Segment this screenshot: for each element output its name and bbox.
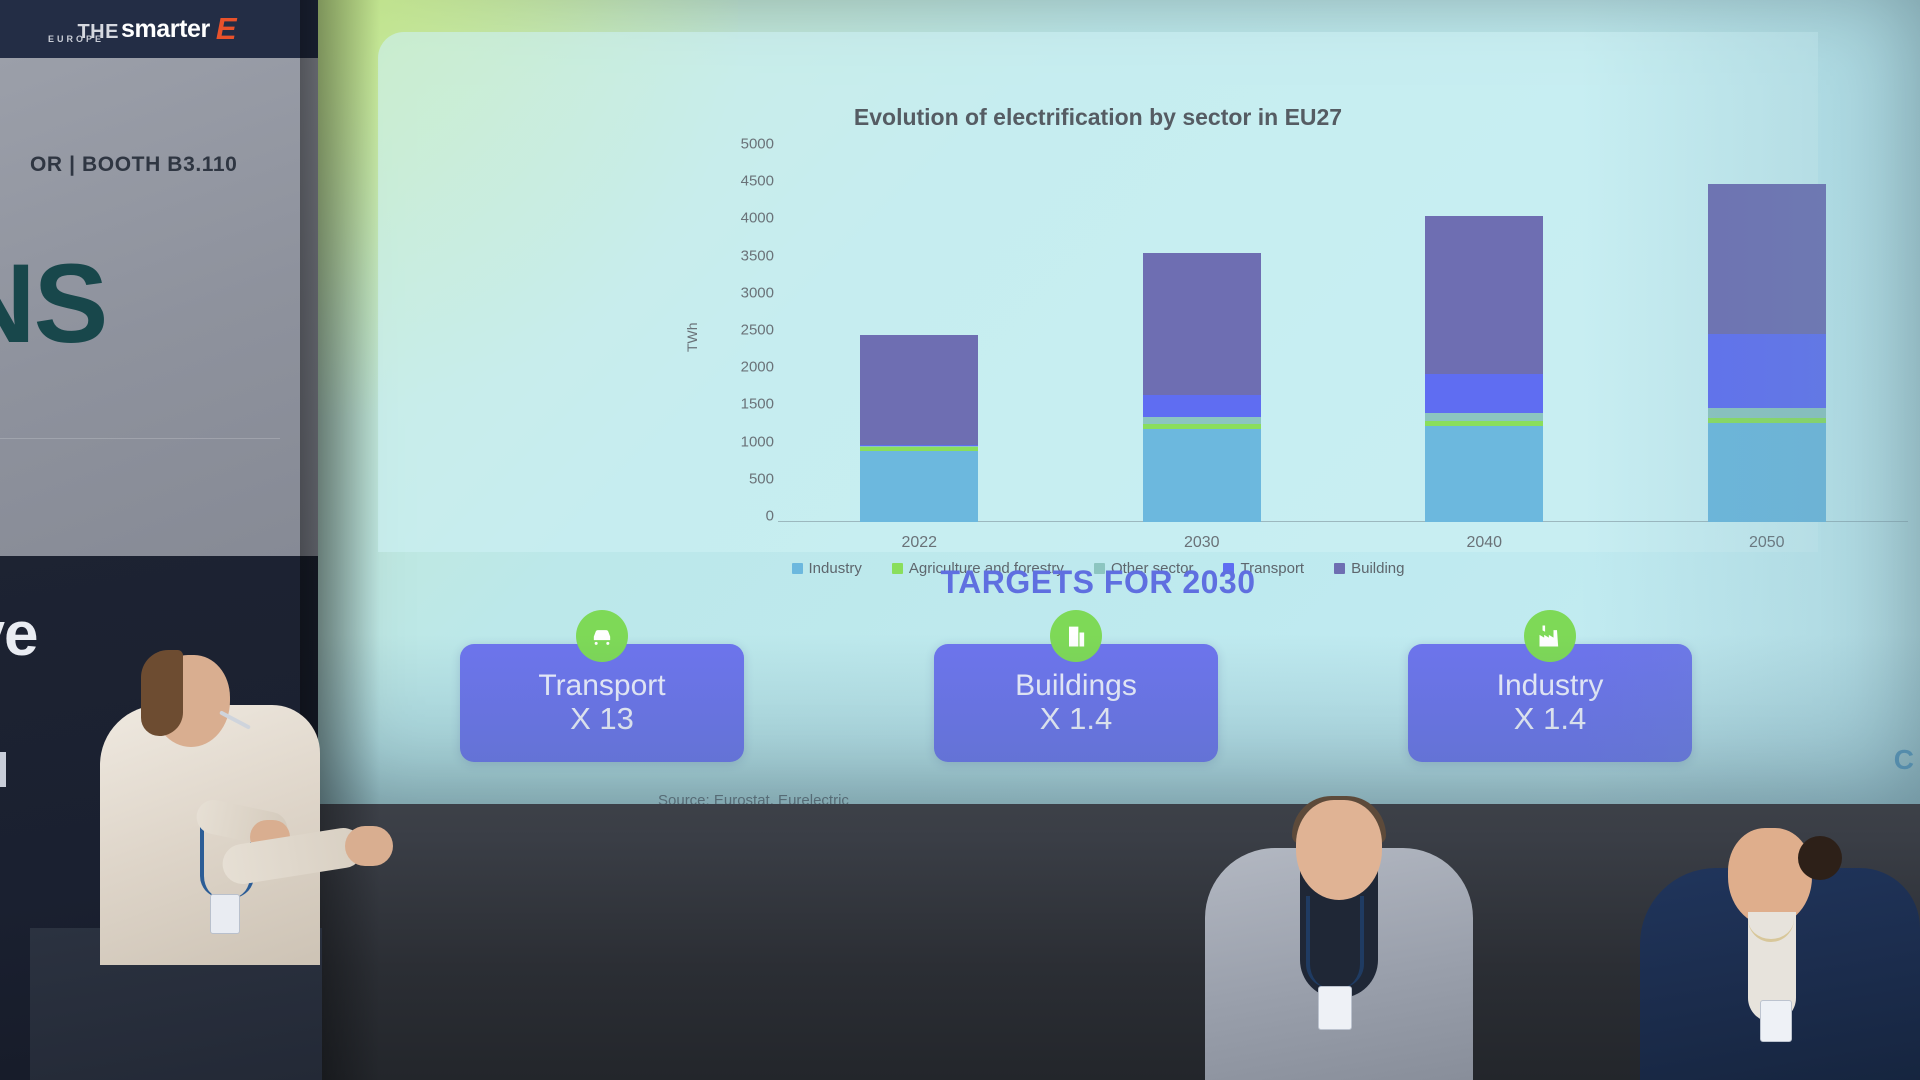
factory-icon <box>1524 610 1576 662</box>
bar-group: 2022 <box>860 150 978 522</box>
grey-exhibitor-banner: OR | BOOTH B3.110 ENS <box>0 58 318 558</box>
banner-headline-line-1: ture is un <box>0 752 6 787</box>
stage-scene: THE smarter E EUROPE OR | BOOTH B3.110 E… <box>0 0 1920 1080</box>
panelist-right-badge <box>1760 1000 1792 1042</box>
target-card-value: X 1.4 <box>1514 702 1586 737</box>
panelist-right-hair-bun <box>1798 836 1842 880</box>
car-icon <box>576 610 628 662</box>
bar-segment[interactable] <box>1425 216 1543 374</box>
bar-segment[interactable] <box>1143 253 1261 394</box>
logo-smarter-text: smarter <box>121 15 210 44</box>
chart-title: Evolution of electrification by sector i… <box>378 104 1818 131</box>
bar-segment[interactable] <box>1143 417 1261 424</box>
target-card-transport[interactable]: TransportX 13 <box>460 644 744 762</box>
y-axis-tick: 1500 <box>741 396 774 413</box>
y-axis-tick: 5000 <box>741 136 774 153</box>
chart-plot-area: 2022203020402050 <box>778 150 1908 522</box>
bar-segment[interactable] <box>1425 413 1543 421</box>
targets-card-row: TransportX 13BuildingsX 1.4IndustryX 1.4 <box>378 634 1818 774</box>
target-card-value: X 1.4 <box>1040 702 1112 737</box>
slide-corner-logo: C <box>1894 744 1914 776</box>
target-card-value: X 13 <box>570 702 634 737</box>
bar-segment[interactable] <box>860 335 978 444</box>
panelist-center-badge <box>1318 986 1352 1030</box>
brand-wordmark-partial: ENS <box>0 248 106 360</box>
bar-segment[interactable] <box>1708 334 1826 408</box>
logo-europe-text: EUROPE <box>48 34 104 44</box>
bar-group: 2030 <box>1143 150 1261 522</box>
y-axis-tick: 3000 <box>741 284 774 301</box>
speaker-left-hand <box>345 826 393 866</box>
bar-segment[interactable] <box>1708 423 1826 522</box>
y-axis-ticks: 0500100015002000250030003500400045005000 <box>696 144 778 522</box>
bar-segment[interactable] <box>1143 429 1261 522</box>
panelist-center-head <box>1296 800 1382 900</box>
y-axis-tick: 4000 <box>741 210 774 227</box>
y-axis-tick: 2500 <box>741 322 774 339</box>
target-card-name: Industry <box>1497 669 1604 703</box>
x-axis-tick-label: 2022 <box>901 534 937 552</box>
booth-number-label: OR | BOOTH B3.110 <box>30 153 237 177</box>
bar-group: 2040 <box>1425 150 1543 522</box>
stacked-bar[interactable] <box>1143 253 1261 522</box>
y-axis-tick: 1000 <box>741 433 774 450</box>
y-axis-tick: 0 <box>766 508 774 525</box>
stacked-bar[interactable] <box>860 335 978 522</box>
panelist-center-lanyard <box>1306 896 1364 988</box>
logo-e-mark: E <box>216 14 237 43</box>
stacked-bar[interactable] <box>1425 216 1543 522</box>
electrive-wordmark-partial: ctrive <box>0 604 37 666</box>
target-card-industry[interactable]: IndustryX 1.4 <box>1408 644 1692 762</box>
bar-segment[interactable] <box>1143 395 1261 417</box>
bar-group: 2050 <box>1708 150 1826 522</box>
bar-segment[interactable] <box>860 451 978 522</box>
banner-divider <box>0 438 280 439</box>
projection-screen: Alongside significant electrification ac… <box>318 0 1920 804</box>
stacked-bar[interactable] <box>1708 184 1826 522</box>
target-card-name: Transport <box>538 669 665 703</box>
y-axis-tick: 500 <box>749 470 774 487</box>
y-axis-tick: 3500 <box>741 247 774 264</box>
building-icon <box>1050 610 1102 662</box>
bar-segment[interactable] <box>1425 426 1543 522</box>
target-card-buildings[interactable]: BuildingsX 1.4 <box>934 644 1218 762</box>
speaker-badge <box>210 894 240 934</box>
speaker-hair-front <box>141 650 183 736</box>
bar-segment[interactable] <box>1425 374 1543 413</box>
x-axis-tick-label: 2050 <box>1749 534 1785 552</box>
chart-card: Evolution of electrification by sector i… <box>378 32 1818 552</box>
bar-segment[interactable] <box>1708 408 1826 418</box>
smarter-e-europe-banner: THE smarter E EUROPE <box>0 0 318 58</box>
targets-heading: TARGETS FOR 2030 <box>378 564 1818 601</box>
x-axis-tick-label: 2030 <box>1184 534 1220 552</box>
target-card-name: Buildings <box>1015 669 1137 703</box>
x-axis-tick-label: 2040 <box>1466 534 1502 552</box>
bar-segment[interactable] <box>1708 184 1826 334</box>
source-note: Source: Eurostat, Eurelectric <box>658 792 849 804</box>
y-axis-tick: 2000 <box>741 359 774 376</box>
y-axis-tick: 4500 <box>741 173 774 190</box>
